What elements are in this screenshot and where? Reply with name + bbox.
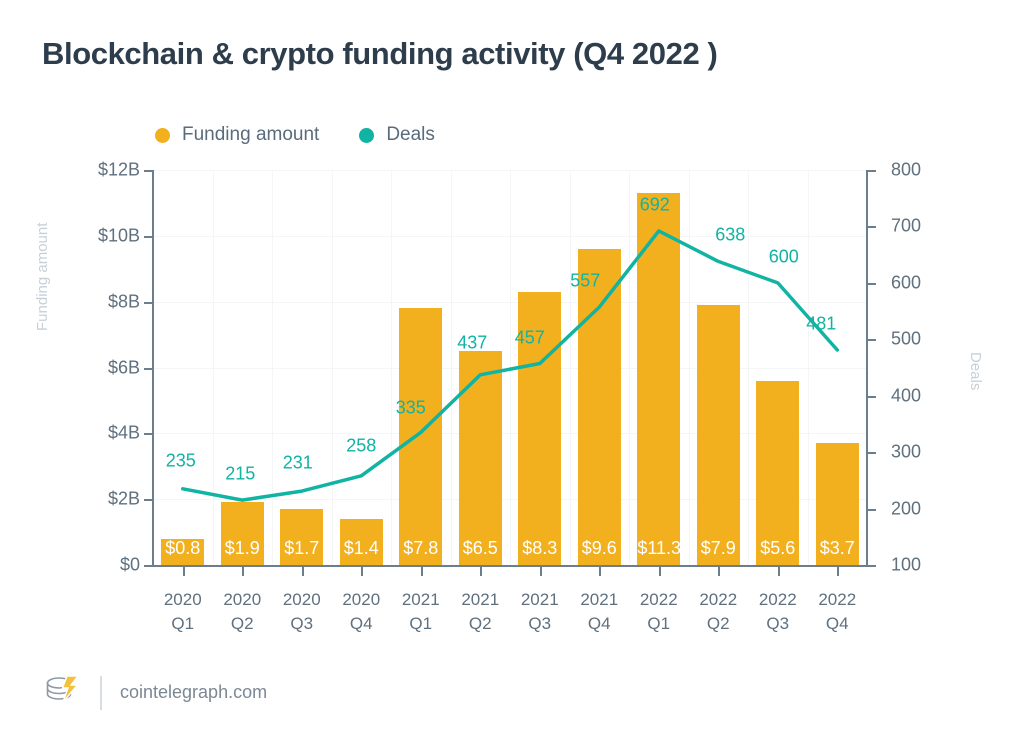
x-axis-tick-label: 2021Q3 [521, 588, 559, 636]
y-axis-right-tick [867, 170, 876, 172]
y-axis-right-tick [867, 226, 876, 228]
x-axis-tick [183, 567, 185, 576]
y-axis-left-tick-label: $6B [30, 357, 140, 378]
y-axis-right-tick-label: 100 [891, 555, 951, 576]
footer-site-label: cointelegraph.com [120, 682, 267, 703]
deals-value-label: 557 [570, 271, 600, 292]
deals-value-label: 335 [396, 398, 426, 419]
deals-value-label: 481 [806, 314, 836, 335]
y-axis-right-tick-label: 700 [891, 216, 951, 237]
y-axis-left-tick-label: $12B [30, 160, 140, 181]
x-axis-tick-label: 2021Q1 [402, 588, 440, 636]
x-axis-tick-label: 2022Q1 [640, 588, 678, 636]
y-axis-left-tick-label: $8B [30, 291, 140, 312]
x-axis-tick [480, 567, 482, 576]
x-axis-tick [837, 567, 839, 576]
x-axis-tick [421, 567, 423, 576]
deals-value-label: 215 [225, 464, 255, 485]
x-axis-line [152, 565, 868, 567]
y-axis-left-tick-label: $0 [30, 555, 140, 576]
x-axis-tick-label: 2021Q2 [461, 588, 499, 636]
y-axis-right-tick-label: 800 [891, 160, 951, 181]
y-axis-left-tick-label: $4B [30, 423, 140, 444]
deals-value-label: 638 [715, 225, 745, 246]
x-axis-labels: 2020Q12020Q22020Q32020Q42021Q12021Q22021… [153, 588, 867, 648]
y-axis-right-labels: 100200300400500600700800 [891, 0, 961, 752]
y-axis-right-tick [867, 509, 876, 511]
cointelegraph-logo-icon [42, 672, 82, 713]
y-axis-right-tick-label: 600 [891, 272, 951, 293]
y-axis-right-tick [867, 452, 876, 454]
y-axis-right-tick-label: 200 [891, 498, 951, 519]
x-axis-tick-label: 2022Q4 [818, 588, 856, 636]
y-axis-right-tick-label: 500 [891, 329, 951, 350]
footer: cointelegraph.com [42, 672, 267, 713]
deals-value-label: 231 [283, 453, 313, 474]
y-axis-left-labels: $0$2B$4B$6B$8B$10B$12B [20, 0, 140, 752]
x-axis-tick [778, 567, 780, 576]
chart-canvas: $0$2B$4B$6B$8B$10B$12B 10020030040050060… [0, 0, 1024, 752]
y-axis-left-tick-label: $2B [30, 489, 140, 510]
x-axis-tick-label: 2020Q4 [342, 588, 380, 636]
x-axis-tick [659, 567, 661, 576]
deals-value-label: 258 [346, 435, 376, 456]
x-axis-tick-label: 2022Q3 [759, 588, 797, 636]
x-axis-tick [540, 567, 542, 576]
deals-value-label: 235 [166, 450, 196, 471]
x-axis-tick-label: 2020Q3 [283, 588, 321, 636]
x-axis-tick-label: 2021Q4 [580, 588, 618, 636]
line-series-deals [153, 170, 867, 565]
x-axis-tick [302, 567, 304, 576]
plot-area: $0.8$1.9$1.7$1.4$7.8$6.5$8.3$9.6$11.3$7.… [153, 170, 867, 565]
y-axis-right-tick-label: 300 [891, 442, 951, 463]
deals-value-label: 457 [515, 327, 545, 348]
x-axis-tick [361, 567, 363, 576]
y-axis-left-tick-label: $10B [30, 225, 140, 246]
footer-divider [100, 676, 102, 710]
y-axis-right-tick [867, 565, 876, 567]
x-axis-tick-label: 2020Q1 [164, 588, 202, 636]
deals-value-label: 600 [769, 246, 799, 267]
x-axis-tick-label: 2022Q2 [699, 588, 737, 636]
x-axis-tick [599, 567, 601, 576]
y-axis-right-tick [867, 283, 876, 285]
x-axis-tick-label: 2020Q2 [223, 588, 261, 636]
deals-value-label: 692 [640, 194, 670, 215]
y-axis-right-tick-label: 400 [891, 385, 951, 406]
y-axis-right-tick [867, 396, 876, 398]
x-axis-tick [718, 567, 720, 576]
deals-value-label: 437 [457, 332, 487, 353]
y-axis-right-tick [867, 339, 876, 341]
x-axis-tick [242, 567, 244, 576]
